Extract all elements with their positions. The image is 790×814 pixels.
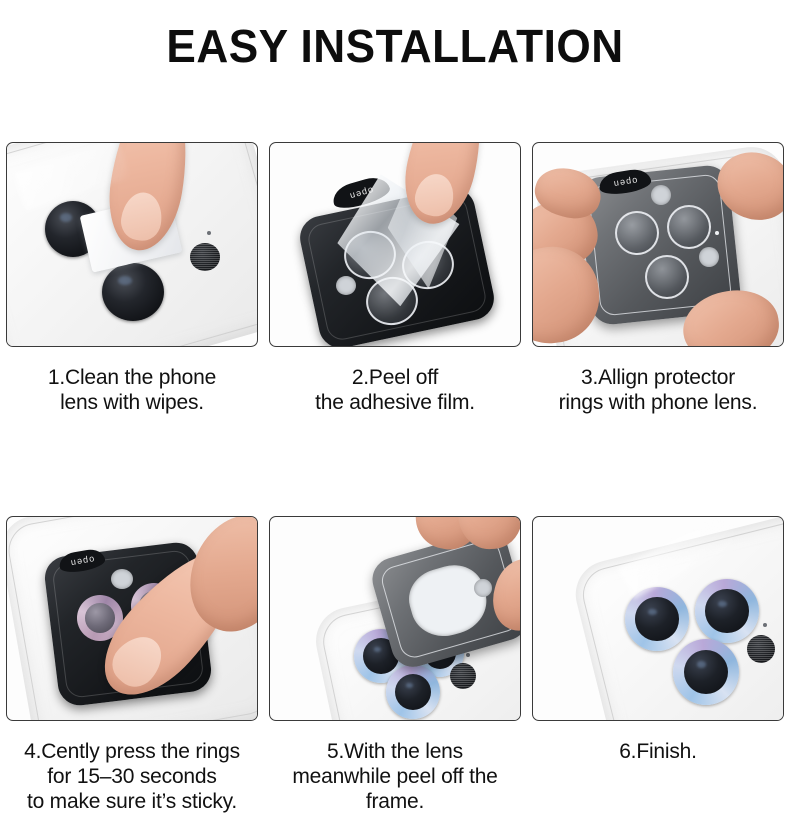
plate-ring-1 bbox=[615, 211, 659, 255]
installed-ring-3 bbox=[386, 665, 440, 719]
step-6-cell: 6.Finish. bbox=[532, 516, 784, 764]
step-5-scene bbox=[270, 517, 520, 720]
step-1-scene bbox=[7, 143, 257, 346]
step-3-photo: open bbox=[532, 142, 784, 347]
fingernail bbox=[104, 627, 172, 695]
lens-core bbox=[684, 650, 729, 695]
fingernail bbox=[412, 170, 459, 219]
step-4-caption: 4.Cently press the rings for 15–30 secon… bbox=[6, 739, 258, 814]
step-1-photo bbox=[6, 142, 258, 347]
flash-dot bbox=[450, 663, 476, 689]
step-2-photo: open bbox=[269, 142, 521, 347]
installed-ring-2 bbox=[695, 579, 759, 643]
plate-flash-hole-side bbox=[699, 247, 719, 267]
microphone-dot bbox=[715, 231, 719, 235]
lens-core bbox=[635, 597, 679, 641]
plate-flash-hole-top bbox=[111, 569, 133, 589]
microphone-dot bbox=[466, 653, 470, 657]
step-2-caption: 2.Peel off the adhesive film. bbox=[269, 365, 521, 415]
fingernail bbox=[118, 190, 165, 244]
open-tab-label: open bbox=[69, 555, 95, 568]
step-5-photo bbox=[269, 516, 521, 721]
flash-dot bbox=[190, 243, 220, 271]
step-6-photo bbox=[532, 516, 784, 721]
step-2-scene: open bbox=[270, 143, 520, 346]
lens-core bbox=[395, 674, 432, 711]
step-1-cell: 1.Clean the phone lens with wipes. bbox=[6, 142, 258, 415]
plate-flash-hole bbox=[336, 276, 356, 295]
step-6-scene bbox=[533, 517, 783, 720]
frame-flash-hole bbox=[474, 579, 492, 597]
plate-ring-2 bbox=[667, 205, 711, 249]
flash-dot bbox=[747, 635, 775, 663]
installed-ring-3 bbox=[673, 639, 739, 705]
lens-core bbox=[705, 589, 749, 633]
step-5-caption: 5.With the lens meanwhile peel off the f… bbox=[269, 739, 521, 814]
step-2-cell: open 2.Peel off the adhesive film. bbox=[269, 142, 521, 415]
lens-core bbox=[85, 603, 114, 632]
steps-row-bottom: open 4.Cently press the rings for 15–30 … bbox=[6, 516, 784, 814]
step-6-caption: 6.Finish. bbox=[532, 739, 784, 764]
page-title: EASY INSTALLATION bbox=[16, 18, 774, 74]
step-4-cell: open 4.Cently press the rings for 15–30 … bbox=[6, 516, 258, 814]
microphone-dot bbox=[207, 231, 211, 235]
plate-flash-hole-top bbox=[651, 185, 671, 205]
microphone-dot bbox=[763, 623, 767, 627]
plate-ring-3 bbox=[645, 255, 689, 299]
steps-row-top: 1.Clean the phone lens with wipes. open bbox=[6, 142, 784, 415]
open-tab-label: open bbox=[612, 176, 638, 189]
camera-lens-bottom bbox=[102, 263, 164, 321]
step-4-photo: open bbox=[6, 516, 258, 721]
step-3-caption: 3.Allign protector rings with phone lens… bbox=[532, 365, 784, 415]
step-3-cell: open 3.Allign protector rings with phone… bbox=[532, 142, 784, 415]
step-1-caption: 1.Clean the phone lens with wipes. bbox=[6, 365, 258, 415]
step-4-scene: open bbox=[7, 517, 257, 720]
installation-steps-grid: 1.Clean the phone lens with wipes. open bbox=[6, 142, 784, 814]
step-3-scene: open bbox=[533, 143, 783, 346]
step-5-cell: 5.With the lens meanwhile peel off the f… bbox=[269, 516, 521, 814]
